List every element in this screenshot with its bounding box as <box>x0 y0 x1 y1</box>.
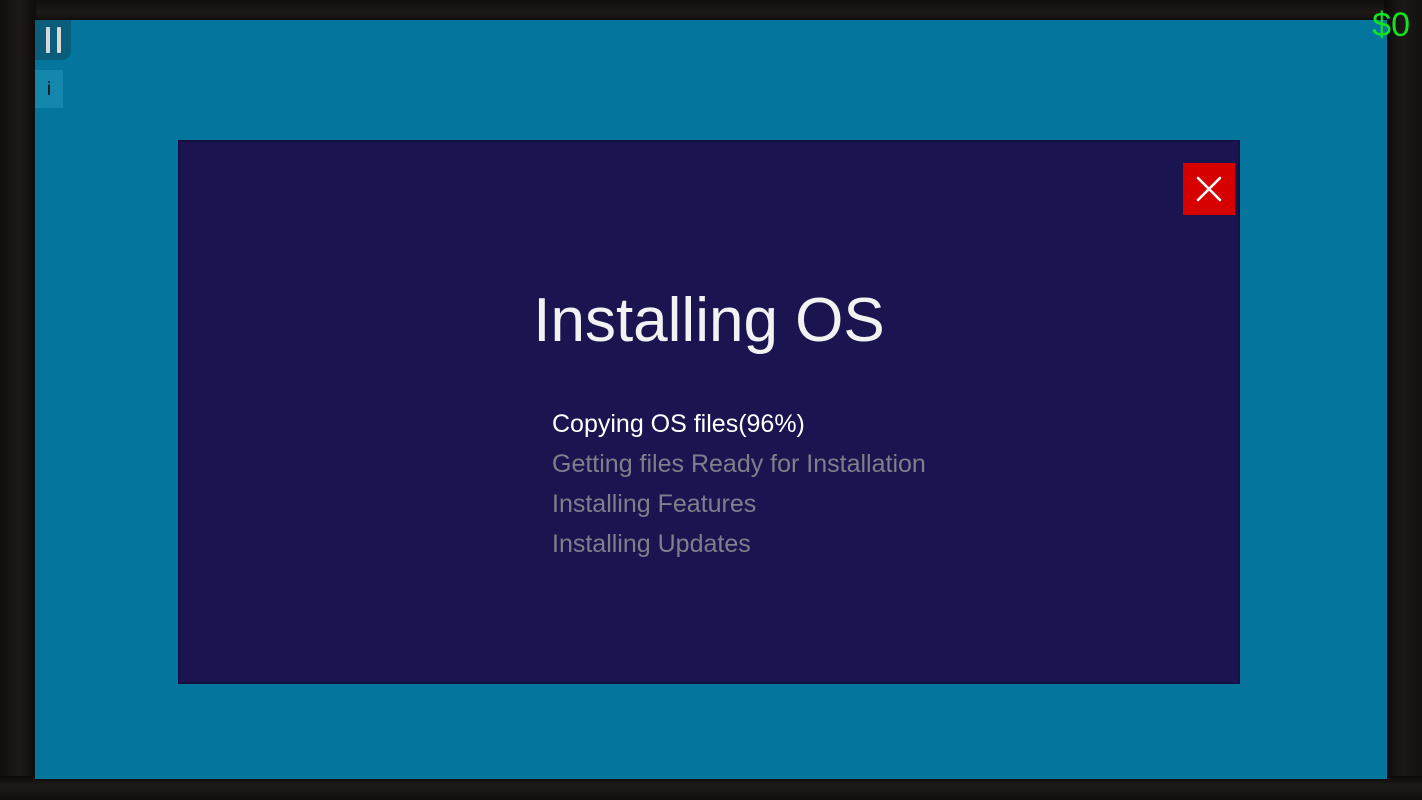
dialog-title: Installing OS <box>180 290 1238 352</box>
window-frame-top <box>0 0 1422 22</box>
install-step-list: Copying OS files(96%) Getting files Read… <box>552 404 926 564</box>
window-frame-left <box>0 0 36 800</box>
install-step-item: Installing Updates <box>552 524 926 564</box>
window-frame-bottom <box>0 776 1422 800</box>
install-step-item: Installing Features <box>552 484 926 524</box>
window-frame-right <box>1384 0 1422 800</box>
pause-button[interactable] <box>35 20 71 60</box>
game-viewport: i Installing OS Copying OS files(96%) Ge… <box>35 20 1387 779</box>
game-screen: i Installing OS Copying OS files(96%) Ge… <box>0 0 1422 800</box>
install-step-item: Getting files Ready for Installation <box>552 444 926 484</box>
money-display: $0 <box>1372 8 1410 42</box>
pause-icon-bar-left <box>46 27 50 53</box>
install-os-dialog: Installing OS Copying OS files(96%) Gett… <box>178 140 1240 684</box>
info-button[interactable]: i <box>35 70 63 108</box>
install-step-item: Copying OS files(96%) <box>552 404 926 444</box>
pause-icon-bar-right <box>57 27 61 53</box>
close-button[interactable] <box>1183 163 1235 215</box>
info-icon: i <box>47 80 51 99</box>
close-icon <box>1194 174 1224 204</box>
